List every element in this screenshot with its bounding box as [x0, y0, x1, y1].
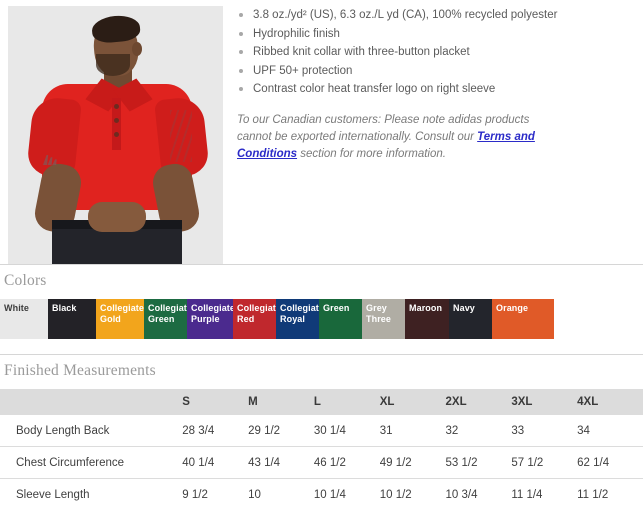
table-column-header: L [314, 389, 380, 415]
color-swatch[interactable]: Collegiate Gold [96, 299, 144, 339]
bullet-icon [239, 32, 243, 36]
measurement-cell: 46 1/2 [314, 447, 380, 479]
table-column-header: M [248, 389, 314, 415]
list-item: Contrast color heat transfer logo on rig… [237, 80, 635, 99]
color-swatch-label: Orange [496, 303, 552, 314]
measurement-cell: 11 1/4 [511, 479, 577, 510]
feature-text: Contrast color heat transfer logo on rig… [253, 83, 495, 95]
bullet-icon [239, 13, 243, 17]
color-swatch[interactable]: Maroon [405, 299, 449, 339]
table-header: SMLXL2XL3XL4XL [0, 389, 643, 415]
color-swatch-label: Collegiate Gold [100, 303, 142, 325]
placket-button [114, 132, 119, 137]
color-swatch-label: White [4, 303, 46, 314]
feature-text: 3.8 oz./yd² (US), 6.3 oz./L yd (CA), 100… [253, 9, 557, 21]
measurement-cell: 53 1/2 [446, 447, 512, 479]
feature-text: UPF 50+ protection [253, 65, 352, 77]
adidas-logo-icon [42, 152, 58, 164]
color-swatch-label: Maroon [409, 303, 447, 314]
placket-button [114, 104, 119, 109]
table-body: Body Length Back28 3/429 1/230 1/4313233… [0, 415, 643, 510]
table-column-header: S [182, 389, 248, 415]
product-overview: 3.8 oz./yd² (US), 6.3 oz./L yd (CA), 100… [0, 0, 643, 264]
measurement-cell: 11 1/2 [577, 479, 643, 510]
measurement-cell: 10 1/4 [314, 479, 380, 510]
color-swatch-label: Collegiate Royal [280, 303, 317, 325]
placket-button [114, 118, 119, 123]
measurement-cell: 31 [380, 415, 446, 447]
measurement-cell: 57 1/2 [511, 447, 577, 479]
color-swatch[interactable]: Collegiate Royal [276, 299, 319, 339]
feature-text: Hydrophilic finish [253, 28, 340, 40]
color-swatch[interactable]: Collegiate Purple [187, 299, 233, 339]
bullet-icon [239, 50, 243, 54]
model-beard [96, 54, 130, 76]
color-swatch[interactable]: Orange [492, 299, 554, 339]
measurement-cell: 29 1/2 [248, 415, 314, 447]
bullet-icon [239, 69, 243, 73]
feature-list: 3.8 oz./yd² (US), 6.3 oz./L yd (CA), 100… [237, 6, 635, 99]
list-item: Hydrophilic finish [237, 25, 635, 44]
measurement-cell: 32 [446, 415, 512, 447]
table-column-header: XL [380, 389, 446, 415]
measurement-cell: 40 1/4 [182, 447, 248, 479]
measurements-section-title: Finished Measurements [0, 355, 643, 389]
table-column-header: 2XL [446, 389, 512, 415]
measurement-cell: 62 1/4 [577, 447, 643, 479]
measurement-cell: 10 3/4 [446, 479, 512, 510]
model-hands [88, 202, 146, 232]
list-item: Ribbed knit collar with three-button pla… [237, 43, 635, 62]
list-item: UPF 50+ protection [237, 62, 635, 81]
three-stripes-detail [170, 110, 192, 162]
measurement-cell: 30 1/4 [314, 415, 380, 447]
color-swatch[interactable]: Collegiate Red [233, 299, 276, 339]
table-column-header: 3XL [511, 389, 577, 415]
measurement-cell: 43 1/4 [248, 447, 314, 479]
table-corner-cell [0, 389, 182, 415]
color-swatch[interactable]: White [0, 299, 48, 339]
feature-text: Ribbed knit collar with three-button pla… [253, 46, 470, 58]
product-features: 3.8 oz./yd² (US), 6.3 oz./L yd (CA), 100… [223, 0, 643, 163]
colors-section-title: Colors [0, 265, 643, 299]
list-item: 3.8 oz./yd² (US), 6.3 oz./L yd (CA), 100… [237, 6, 635, 25]
color-swatch[interactable]: Grey Three [362, 299, 405, 339]
product-photo[interactable] [8, 6, 223, 264]
table-row: Chest Circumference40 1/443 1/446 1/249 … [0, 447, 643, 479]
notice-text-after: section for more information. [297, 148, 446, 160]
color-swatch[interactable]: Collegiate Green [144, 299, 187, 339]
color-swatch-label: Collegiate Green [148, 303, 185, 325]
table-row: Sleeve Length9 1/21010 1/410 1/210 3/411… [0, 479, 643, 510]
table-row: Body Length Back28 3/429 1/230 1/4313233… [0, 415, 643, 447]
color-swatch[interactable]: Navy [449, 299, 492, 339]
color-swatch-label: Navy [453, 303, 490, 314]
color-swatch-label: Collegiate Purple [191, 303, 231, 325]
color-swatch[interactable]: Black [48, 299, 96, 339]
color-swatch-label: Green [323, 303, 360, 314]
model-ear [132, 42, 142, 56]
table-header-row: SMLXL2XL3XL4XL [0, 389, 643, 415]
color-swatch-label: Collegiate Red [237, 303, 274, 325]
color-swatch-label: Black [52, 303, 94, 314]
measurement-row-label: Chest Circumference [0, 447, 182, 479]
canadian-customers-notice: To our Canadian customers: Please note a… [237, 112, 549, 163]
measurement-row-label: Body Length Back [0, 415, 182, 447]
color-swatch-label: Grey Three [366, 303, 403, 325]
measurement-cell: 34 [577, 415, 643, 447]
measurement-row-label: Sleeve Length [0, 479, 182, 510]
table-column-header: 4XL [577, 389, 643, 415]
measurement-cell: 28 3/4 [182, 415, 248, 447]
color-swatch-strip: WhiteBlackCollegiate GoldCollegiate Gree… [0, 299, 544, 339]
color-swatch[interactable]: Green [319, 299, 362, 339]
measurement-cell: 10 [248, 479, 314, 510]
measurement-cell: 10 1/2 [380, 479, 446, 510]
measurement-cell: 33 [511, 415, 577, 447]
measurement-cell: 9 1/2 [182, 479, 248, 510]
bullet-icon [239, 87, 243, 91]
measurement-cell: 49 1/2 [380, 447, 446, 479]
